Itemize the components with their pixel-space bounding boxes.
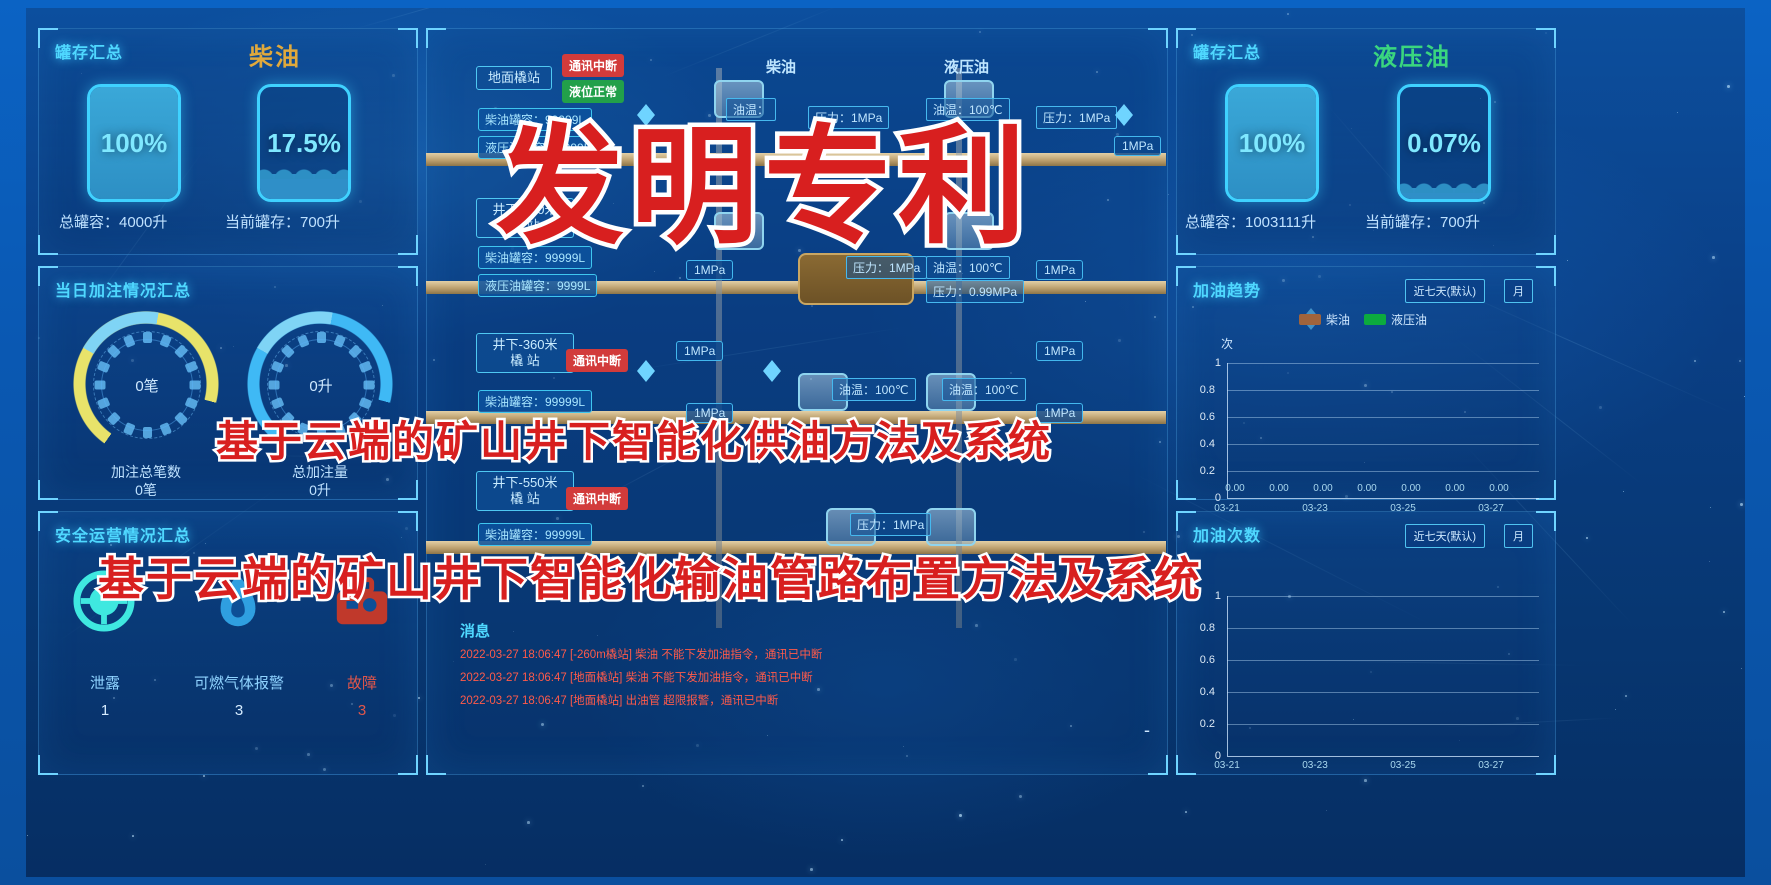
- grid-line: [1227, 628, 1539, 629]
- gauge-caption-line1: 加注总笔数: [111, 464, 181, 480]
- data-point-label: 0.00: [1215, 483, 1255, 494]
- tank-percent: 17.5%: [260, 87, 348, 199]
- chart-legend: 柴油 液压油: [1299, 311, 1427, 328]
- oil-type-label: 柴油: [249, 37, 301, 72]
- y-tick: 0.6: [1189, 654, 1215, 666]
- panel-title: 罐存汇总: [55, 39, 123, 63]
- station-name-360[interactable]: 井下-360米 橇 站: [476, 333, 574, 373]
- sensor-tag: 压力：0.99MPa: [926, 280, 1024, 303]
- station-name-550[interactable]: 井下-550米 橇 站: [476, 471, 574, 511]
- tank-total-hydraulic: 100%: [1225, 84, 1319, 202]
- grid-line: [1227, 363, 1539, 364]
- x-tick: 03-21: [1207, 760, 1247, 771]
- grid-line: [1227, 596, 1539, 597]
- tank-current-diesel: 17.5%: [257, 84, 351, 202]
- safety-label-leak: 泄露: [63, 672, 147, 693]
- x-tick: 03-27: [1471, 760, 1511, 771]
- dashboard-screen: 罐存汇总 柴油 100% 总罐容：4000升 17.5% 当前罐存：700升 当…: [26, 8, 1745, 877]
- legend-item-hydraulic[interactable]: 液压油: [1364, 311, 1427, 328]
- gauge-value: 0笔: [101, 339, 193, 431]
- safety-label-fault: 故障: [307, 672, 417, 693]
- watermark-patent-title-1: 基于云端的矿山井下智能化供油方法及系统: [216, 408, 1052, 469]
- grid-line: [1227, 390, 1539, 391]
- message-line: 2022-03-27 18:06:47 [地面橇站] 出油管 超限报警，通讯已中…: [460, 692, 778, 708]
- legend-swatch: [1299, 314, 1321, 325]
- tank-percent: 0.07%: [1400, 87, 1488, 199]
- status-comm-550: 通讯中断: [566, 487, 628, 510]
- x-tick: 03-23: [1295, 760, 1335, 771]
- data-point-label: 0.00: [1259, 483, 1299, 494]
- tank-capacity-200-hydraulic: 液压油罐容：9999L: [478, 274, 597, 297]
- station-name-line2: 橇 站: [510, 491, 540, 506]
- gauge-caption-line2: 0升: [309, 482, 331, 498]
- legend-label: 液压油: [1391, 311, 1427, 328]
- panel-refuel-count: 加油次数 近七天(默认) 月 1 0.8 0.6 0.4 0.2 0 03-21…: [1176, 511, 1556, 775]
- y-tick: 1: [1195, 357, 1221, 369]
- grid-line: [1227, 417, 1539, 418]
- tank-current-caption: 当前罐存：700升: [225, 211, 340, 232]
- gauge-refuel-count: 0笔: [71, 309, 221, 459]
- panel-title: 加油趋势: [1193, 277, 1261, 301]
- watermark-patent-title-2: 基于云端的矿山井下智能化输油管路布置方法及系统: [98, 543, 1202, 609]
- oil-type-label: 液压油: [1373, 37, 1451, 72]
- range-button-seven-days[interactable]: 近七天(默认): [1405, 279, 1485, 303]
- grid-line: [1227, 692, 1539, 693]
- tank-percent: 100%: [90, 87, 178, 199]
- gauge-caption: 加注总笔数 0笔: [71, 463, 221, 499]
- sensor-tag: 压力：1MPa: [1036, 106, 1117, 129]
- y-tick: 0.8: [1189, 622, 1215, 634]
- zoom-out-button[interactable]: -: [1144, 720, 1150, 741]
- panel-left-tank-summary: 罐存汇总 柴油 100% 总罐容：4000升 17.5% 当前罐存：700升: [38, 28, 418, 255]
- y-tick: 0.8: [1189, 384, 1215, 396]
- message-line: 2022-03-27 18:06:47 [地面橇站] 柴油 不能下发加油指令，通…: [460, 669, 813, 685]
- tank-total-caption: 总罐容：4000升: [59, 211, 167, 232]
- pressure-tag: 1MPa: [1114, 136, 1161, 156]
- y-tick: 0.4: [1189, 438, 1215, 450]
- tank-total-diesel: 100%: [87, 84, 181, 202]
- column-header-hydraulic: 液压油: [944, 56, 989, 77]
- safety-label-gas-alarm: 可燃气体报警: [179, 672, 299, 693]
- equipment-tank-8: [926, 508, 976, 546]
- tank-total-caption: 总罐容：1003111升: [1185, 211, 1316, 232]
- panel-title: 加油次数: [1193, 522, 1261, 546]
- y-axis-line: [1227, 363, 1228, 498]
- tank-current-caption: 当前罐存：700升: [1365, 211, 1480, 232]
- y-tick: 0.2: [1189, 465, 1215, 477]
- panel-right-tank-summary: 罐存汇总 液压油 100% 总罐容：1003111升 0.07% 当前罐存：70…: [1176, 28, 1556, 255]
- station-name-line1: 井下-360米: [492, 337, 557, 352]
- messages-title: 消息: [460, 620, 490, 641]
- data-point-label: 0.00: [1391, 483, 1431, 494]
- data-point-label: 0.00: [1303, 483, 1343, 494]
- pressure-tag: 1MPa: [676, 341, 723, 361]
- sensor-tag: 油温：100℃: [942, 378, 1026, 401]
- grid-line: [1227, 444, 1539, 445]
- data-point-label: 0.00: [1479, 483, 1519, 494]
- grid-line: [1227, 471, 1539, 472]
- y-tick: 0.2: [1189, 718, 1215, 730]
- panel-title: 当日加注情况汇总: [55, 277, 191, 301]
- y-tick: 0.6: [1189, 411, 1215, 423]
- safety-value-fault: 3: [307, 702, 417, 719]
- legend-item-diesel[interactable]: 柴油: [1299, 311, 1350, 328]
- station-name-line1: 井下-550米: [492, 475, 557, 490]
- x-axis-line: [1227, 756, 1539, 757]
- grid-line: [1227, 660, 1539, 661]
- y-axis-unit-label: 次: [1221, 335, 1233, 352]
- range-button-seven-days[interactable]: 近七天(默认): [1405, 524, 1485, 548]
- y-tick: 0.4: [1189, 686, 1215, 698]
- pressure-tag: 1MPa: [1036, 260, 1083, 280]
- column-header-diesel: 柴油: [766, 56, 796, 77]
- data-point-label: 0.00: [1347, 483, 1387, 494]
- station-name-line2: 橇 站: [510, 353, 540, 368]
- status-comm-360: 通讯中断: [566, 349, 628, 372]
- legend-label: 柴油: [1326, 311, 1350, 328]
- tank-percent: 100%: [1228, 87, 1316, 199]
- status-comm-ground: 通讯中断: [562, 54, 624, 77]
- message-line: 2022-03-27 18:06:47 [-260m橇站] 柴油 不能下发加油指…: [460, 646, 822, 662]
- legend-swatch: [1364, 314, 1386, 325]
- gauge-caption-line2: 0笔: [135, 482, 157, 498]
- panel-refuel-trend: 加油趋势 近七天(默认) 月 柴油 液压油 次 1 0.8 0.6 0.4 0.…: [1176, 266, 1556, 500]
- panel-title: 罐存汇总: [1193, 39, 1261, 63]
- range-button-month[interactable]: 月: [1504, 524, 1533, 548]
- safety-value-gas-alarm: 3: [179, 702, 299, 719]
- sensor-tag: 油温：100℃: [832, 378, 916, 401]
- grid-line: [1227, 724, 1539, 725]
- watermark-headline: 发明专利: [496, 83, 1032, 268]
- range-button-month[interactable]: 月: [1504, 279, 1533, 303]
- data-point-label: 0.00: [1435, 483, 1475, 494]
- x-tick: 03-25: [1383, 760, 1423, 771]
- x-axis-line: [1227, 498, 1539, 499]
- tank-current-hydraulic: 0.07%: [1397, 84, 1491, 202]
- sensor-tag: 压力：1MPa: [850, 513, 931, 536]
- safety-value-leak: 1: [63, 702, 147, 719]
- y-axis-line: [1227, 596, 1228, 756]
- pressure-tag: 1MPa: [1036, 341, 1083, 361]
